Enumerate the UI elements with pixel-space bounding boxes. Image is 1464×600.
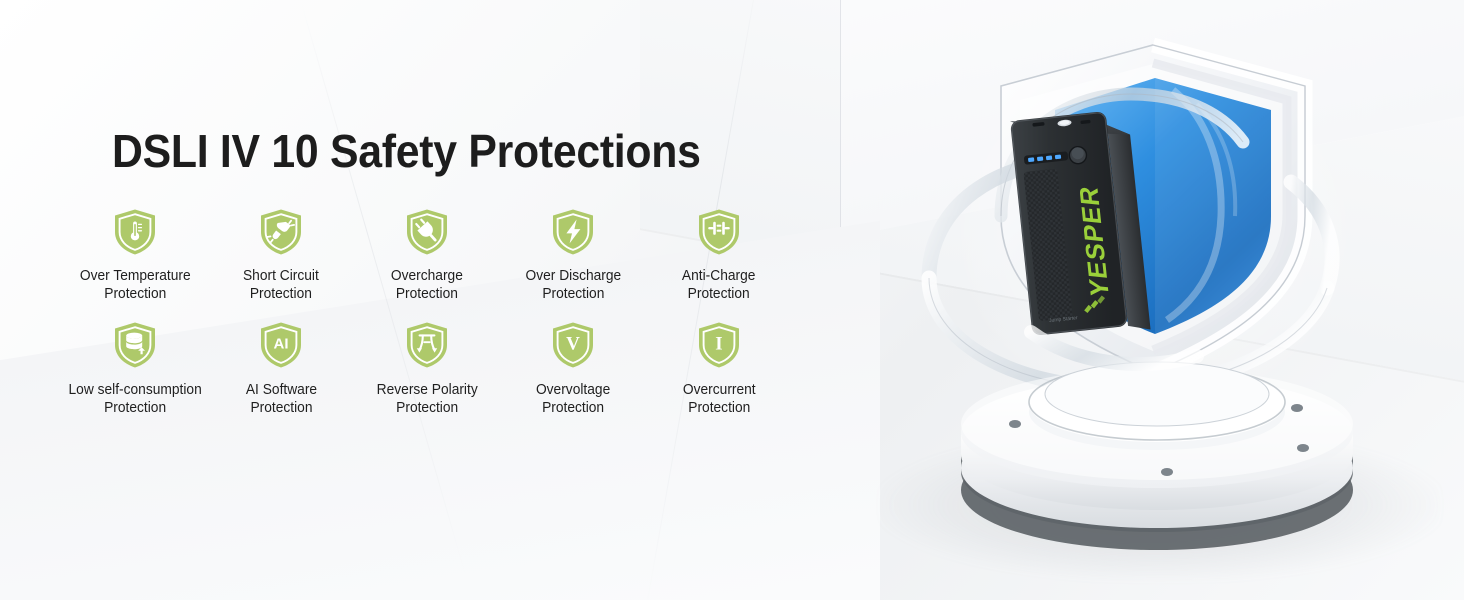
- reverse-polarity-icon: [404, 321, 450, 369]
- product-device: YESPER Jump Starter: [1010, 109, 1151, 342]
- protection-item-overcharge: Overcharge Protection: [354, 208, 500, 303]
- product-pedestal: [961, 362, 1353, 550]
- protection-label: Short Circuit Protection: [243, 268, 319, 303]
- safety-protections-banner: DSLI IV 10 Safety Protections: [0, 0, 1464, 600]
- protection-label: Reverse Polarity Protection: [376, 382, 477, 417]
- thermometer-icon: [112, 208, 158, 256]
- protection-item-overvoltage: V Overvoltage Protection: [500, 321, 646, 417]
- svg-text:AI: AI: [274, 336, 289, 353]
- protection-item-short-circuit: Short Circuit Protection: [208, 208, 354, 303]
- product-scene: YESPER Jump Starter: [905, 20, 1425, 580]
- protection-item-ai-software: AI AI Software Protection: [208, 321, 354, 417]
- protections-row-2: Low self-consumption Protection AI AI So…: [62, 321, 792, 417]
- protections-grid: Over Temperature Protection: [62, 208, 792, 417]
- database-stack-icon: [112, 321, 158, 369]
- protection-item-over-discharge: Over Discharge Protection: [500, 208, 646, 303]
- protection-item-overcurrent: I Overcurrent Protection: [646, 321, 792, 417]
- protection-item-low-self-consumption: Low self-consumption Protection: [62, 321, 208, 417]
- protection-label: AI Software Protection: [245, 382, 316, 417]
- power-plug-icon: [404, 208, 450, 256]
- protection-label: Low self-consumption Protection: [68, 382, 201, 417]
- content-column: DSLI IV 10 Safety Protections: [0, 0, 820, 600]
- short-circuit-plug-icon: [258, 208, 304, 256]
- protection-label: Over Temperature Protection: [80, 268, 191, 303]
- ai-text-icon: AI: [258, 321, 304, 369]
- voltage-v-icon: V: [550, 321, 596, 369]
- lightning-bolt-icon: [550, 208, 596, 256]
- current-i-icon: I: [696, 321, 742, 369]
- page-title: DSLI IV 10 Safety Protections: [112, 128, 701, 174]
- protection-label: Overcurrent Protection: [683, 382, 756, 417]
- protection-label: Anti-Charge Protection: [682, 268, 756, 303]
- protection-label: Overcharge Protection: [391, 268, 463, 303]
- svg-text:V: V: [566, 334, 580, 355]
- protections-row-1: Over Temperature Protection: [62, 208, 792, 303]
- protection-label: Overvoltage Protection: [536, 382, 610, 417]
- protection-item-reverse-polarity: Reverse Polarity Protection: [354, 321, 500, 417]
- protection-label: Over Discharge Protection: [525, 268, 621, 303]
- svg-text:I: I: [715, 334, 722, 355]
- capacitor-icon: [696, 208, 742, 256]
- protection-item-over-temperature: Over Temperature Protection: [62, 208, 208, 303]
- protection-item-anti-charge: Anti-Charge Protection: [646, 208, 792, 303]
